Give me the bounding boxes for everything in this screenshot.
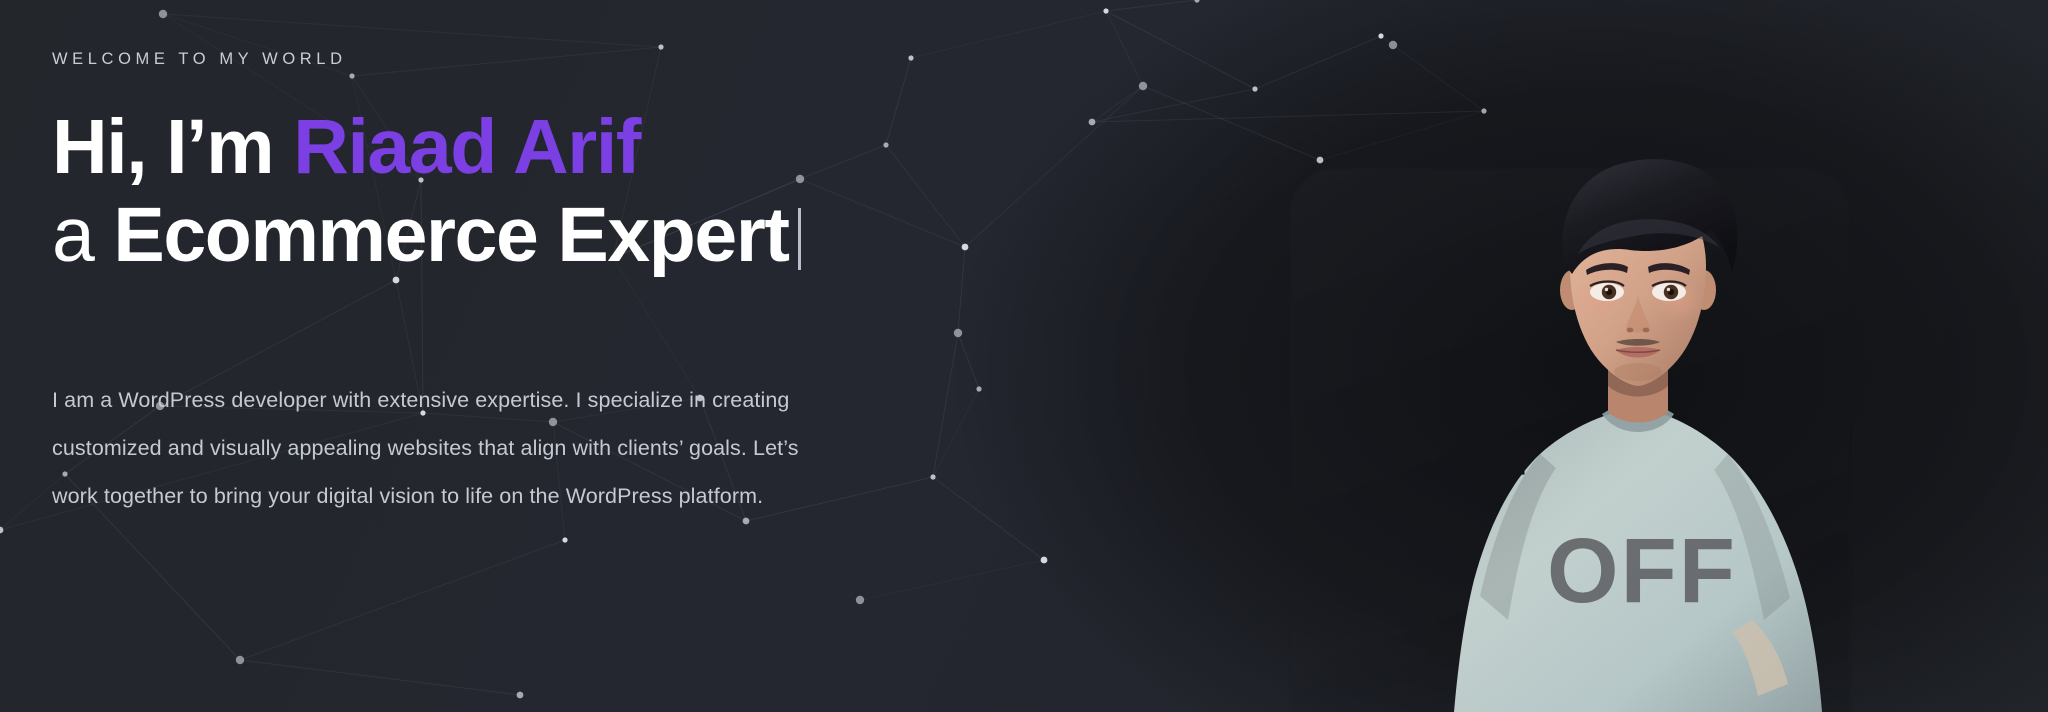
typing-caret-icon <box>798 208 801 270</box>
network-node <box>1481 108 1486 113</box>
eyebrow-label: WELCOME TO MY WORLD <box>52 50 347 69</box>
network-edge <box>1393 45 1484 111</box>
network-node <box>1317 157 1324 164</box>
page-title: Hi, I’m Riaad Arif a Ecommerce Expert <box>52 104 1172 280</box>
network-node <box>1252 86 1257 91</box>
hero-content: WELCOME TO MY WORLD Hi, I’m Riaad Arif a… <box>52 0 1212 712</box>
network-edge <box>1255 36 1381 89</box>
headline-line-1: Hi, I’m Riaad Arif <box>52 104 1172 192</box>
headline-line-2: a Ecommerce Expert <box>52 192 1172 280</box>
description-line-1: I am a WordPress developer with extensiv… <box>52 376 1072 424</box>
headline-role: Ecommerce Expert <box>113 192 788 278</box>
portrait-photo: OFF <box>1452 150 1824 712</box>
shirt-logo-text: OFF <box>1547 520 1737 622</box>
hero-description: I am a WordPress developer with extensiv… <box>52 376 1072 520</box>
network-node <box>1389 41 1397 49</box>
description-line-2: customized and visually appealing websit… <box>52 424 1072 472</box>
hero-section: WELCOME TO MY WORLD Hi, I’m Riaad Arif a… <box>0 0 2048 712</box>
headline-greeting: Hi, I’m <box>52 104 293 190</box>
network-node <box>1378 33 1383 38</box>
headline-article: a <box>52 192 113 278</box>
sweatshirt: OFF <box>1454 402 1822 712</box>
description-line-3: work together to bring your digital visi… <box>52 472 1072 520</box>
headline-name: Riaad Arif <box>293 104 640 190</box>
